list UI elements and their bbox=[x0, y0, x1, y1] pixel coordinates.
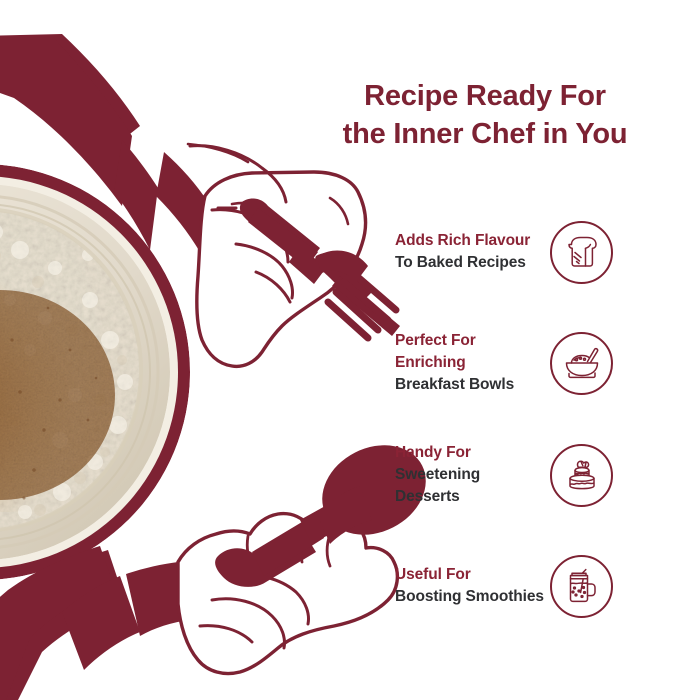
headline-line-2: the Inner Chef in You bbox=[330, 116, 640, 154]
bowl-of-porridge bbox=[0, 164, 190, 580]
feature-line-2: Sweetening Desserts bbox=[395, 464, 545, 508]
feature-item-adds-rich-flavour: Adds Rich Flavour To Baked Recipes bbox=[330, 220, 700, 284]
feature-icon-circle bbox=[550, 221, 613, 284]
feature-item-useful-for-boosting: Useful For Boosting Smoothies bbox=[330, 554, 700, 618]
bread-loaf-icon bbox=[564, 235, 600, 269]
feature-line-1: Adds Rich Flavour bbox=[395, 230, 545, 252]
feature-line-2: Breakfast Bowls bbox=[395, 374, 545, 396]
feature-line-2: To Baked Recipes bbox=[395, 252, 545, 274]
layer-cake-icon bbox=[564, 457, 600, 493]
page-title: Recipe Ready For the Inner Chef in You bbox=[330, 78, 640, 153]
feature-icon-circle bbox=[550, 555, 613, 618]
feature-item-handy-for-sweetening: Handy For Sweetening Desserts bbox=[330, 443, 700, 507]
feature-icon-circle bbox=[550, 332, 613, 395]
feature-line-1: Useful For bbox=[395, 564, 545, 586]
feature-text: Adds Rich Flavour To Baked Recipes bbox=[330, 230, 545, 274]
smoothie-jar-icon bbox=[565, 568, 599, 604]
headline-line-1: Recipe Ready For bbox=[364, 80, 606, 112]
feature-text: Perfect For Enriching Breakfast Bowls bbox=[330, 330, 545, 396]
content-column: Recipe Ready For the Inner Chef in You A… bbox=[330, 0, 700, 700]
promo-graphic: Recipe Ready For the Inner Chef in You A… bbox=[0, 0, 700, 700]
feature-text: Handy For Sweetening Desserts bbox=[330, 442, 545, 508]
cereal-bowl-icon bbox=[563, 346, 601, 380]
feature-text: Useful For Boosting Smoothies bbox=[330, 564, 545, 608]
feature-line-2: Boosting Smoothies bbox=[395, 586, 545, 608]
feature-line-1: Handy For bbox=[395, 442, 545, 464]
feature-line-1: Perfect For Enriching bbox=[395, 330, 545, 374]
feature-item-perfect-for-enriching: Perfect For Enriching Breakfast Bowls bbox=[330, 331, 700, 395]
feature-icon-circle bbox=[550, 444, 613, 507]
